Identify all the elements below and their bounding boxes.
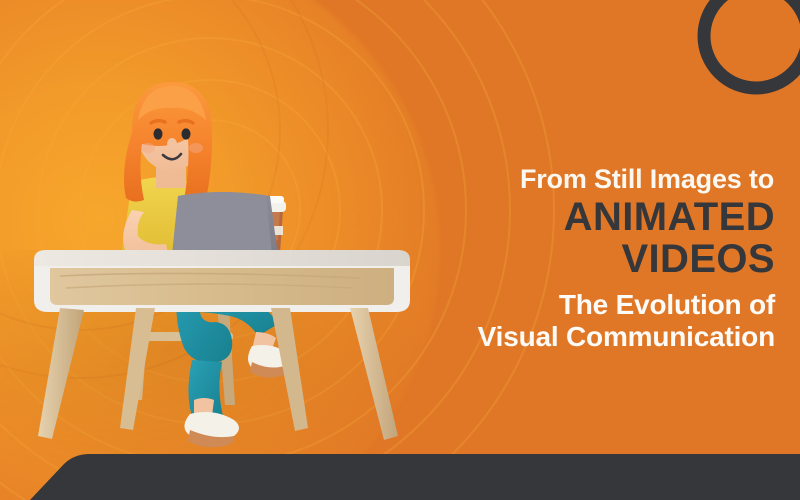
headline-line-5: Visual Communication: [380, 321, 775, 353]
headline-block: From Still Images to ANIMATED VIDEOS The…: [380, 164, 775, 354]
ring-outline-icon: [695, 0, 800, 97]
headline-line-3: VIDEOS: [380, 238, 775, 280]
banner-canvas: From Still Images to ANIMATED VIDEOS The…: [0, 0, 800, 500]
headline-line-2: ANIMATED: [380, 196, 775, 238]
headline-line-4: The Evolution of: [380, 289, 775, 321]
desk-scene-illustration: [20, 70, 420, 450]
headline-line-1: From Still Images to: [380, 164, 775, 196]
